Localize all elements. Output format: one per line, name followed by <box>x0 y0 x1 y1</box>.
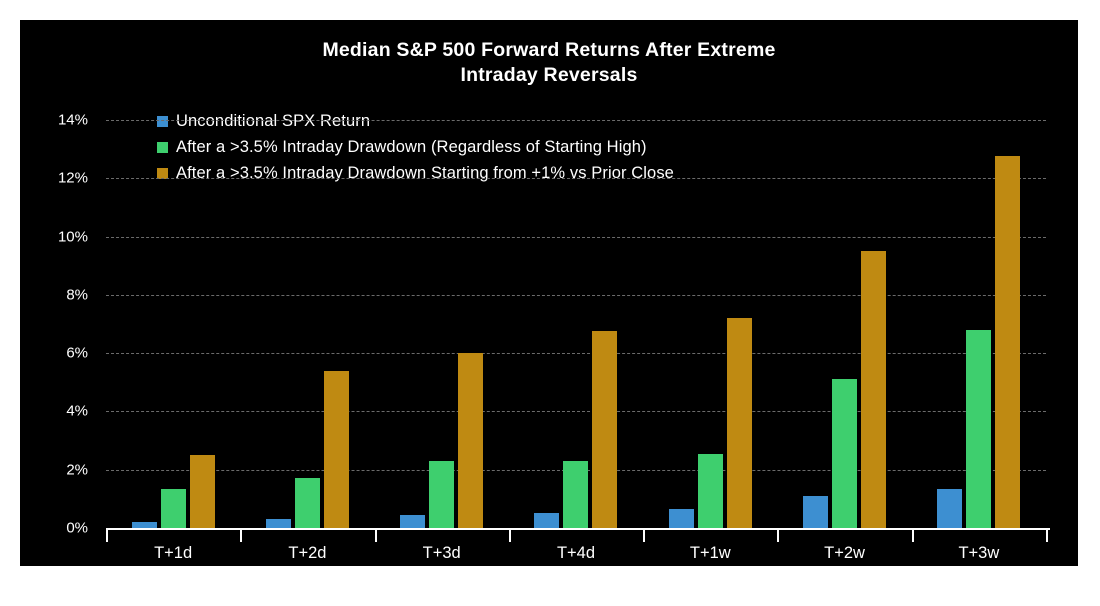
bar-series-2[interactable] <box>190 455 215 528</box>
x-axis-label-t3d: T+3d <box>372 544 512 563</box>
y-axis-tick-label: 4% <box>28 403 88 420</box>
x-axis-tick-mark <box>375 530 377 542</box>
chart-title-line-1: Median S&P 500 Forward Returns After Ext… <box>322 39 775 61</box>
x-axis-label-t3w: T+3w <box>909 544 1049 563</box>
y-axis-tick-label: 2% <box>28 461 88 478</box>
bar-group-t1w <box>643 120 777 528</box>
plot-area <box>106 120 1046 528</box>
bar-series-0[interactable] <box>266 519 291 528</box>
bar-group-t2w <box>777 120 911 528</box>
chart-frame: Median S&P 500 Forward Returns After Ext… <box>20 20 1078 566</box>
bar-series-2[interactable] <box>861 251 886 528</box>
bar-series-0[interactable] <box>534 513 559 528</box>
x-axis-tick-mark <box>912 530 914 542</box>
bar-group-t2d <box>240 120 374 528</box>
chart-title: Median S&P 500 Forward Returns After Ext… <box>20 38 1078 88</box>
bar-series-1[interactable] <box>563 461 588 528</box>
bar-group-t4d <box>509 120 643 528</box>
bar-series-0[interactable] <box>803 496 828 528</box>
bar-series-1[interactable] <box>966 330 991 528</box>
bar-series-2[interactable] <box>324 371 349 528</box>
x-axis-label-t4d: T+4d <box>506 544 646 563</box>
bar-group-t3w <box>912 120 1046 528</box>
chart-title-line-2: Intraday Reversals <box>20 63 1078 88</box>
y-axis-tick-label: 14% <box>28 112 88 129</box>
bar-series-1[interactable] <box>698 454 723 528</box>
x-axis-tick-mark <box>1046 530 1048 542</box>
bar-series-2[interactable] <box>995 156 1020 528</box>
bar-series-1[interactable] <box>161 489 186 528</box>
x-axis-line <box>106 528 1050 530</box>
bar-series-1[interactable] <box>295 478 320 528</box>
x-axis-label-t1d: T+1d <box>103 544 243 563</box>
bar-series-0[interactable] <box>937 489 962 528</box>
bar-series-0[interactable] <box>669 509 694 528</box>
y-axis-tick-label: 0% <box>28 520 88 537</box>
bar-series-1[interactable] <box>429 461 454 528</box>
x-axis-tick-mark <box>509 530 511 542</box>
bar-group-t3d <box>375 120 509 528</box>
bar-group-t1d <box>106 120 240 528</box>
x-axis-tick-mark <box>777 530 779 542</box>
bar-series-0[interactable] <box>400 515 425 528</box>
y-axis-tick-label: 6% <box>28 345 88 362</box>
x-axis-tick-mark <box>106 530 108 542</box>
x-axis-tick-mark <box>240 530 242 542</box>
bar-series-2[interactable] <box>727 318 752 528</box>
y-axis-tick-label: 10% <box>28 228 88 245</box>
x-axis-tick-mark <box>643 530 645 542</box>
y-axis-tick-label: 8% <box>28 286 88 303</box>
bar-series-2[interactable] <box>458 353 483 528</box>
bar-series-1[interactable] <box>832 379 857 528</box>
x-axis-label-t2w: T+2w <box>775 544 915 563</box>
y-axis-tick-label: 12% <box>28 170 88 187</box>
x-axis-label-t2d: T+2d <box>237 544 377 563</box>
bar-series-2[interactable] <box>592 331 617 528</box>
x-axis-label-t1w: T+1w <box>640 544 780 563</box>
